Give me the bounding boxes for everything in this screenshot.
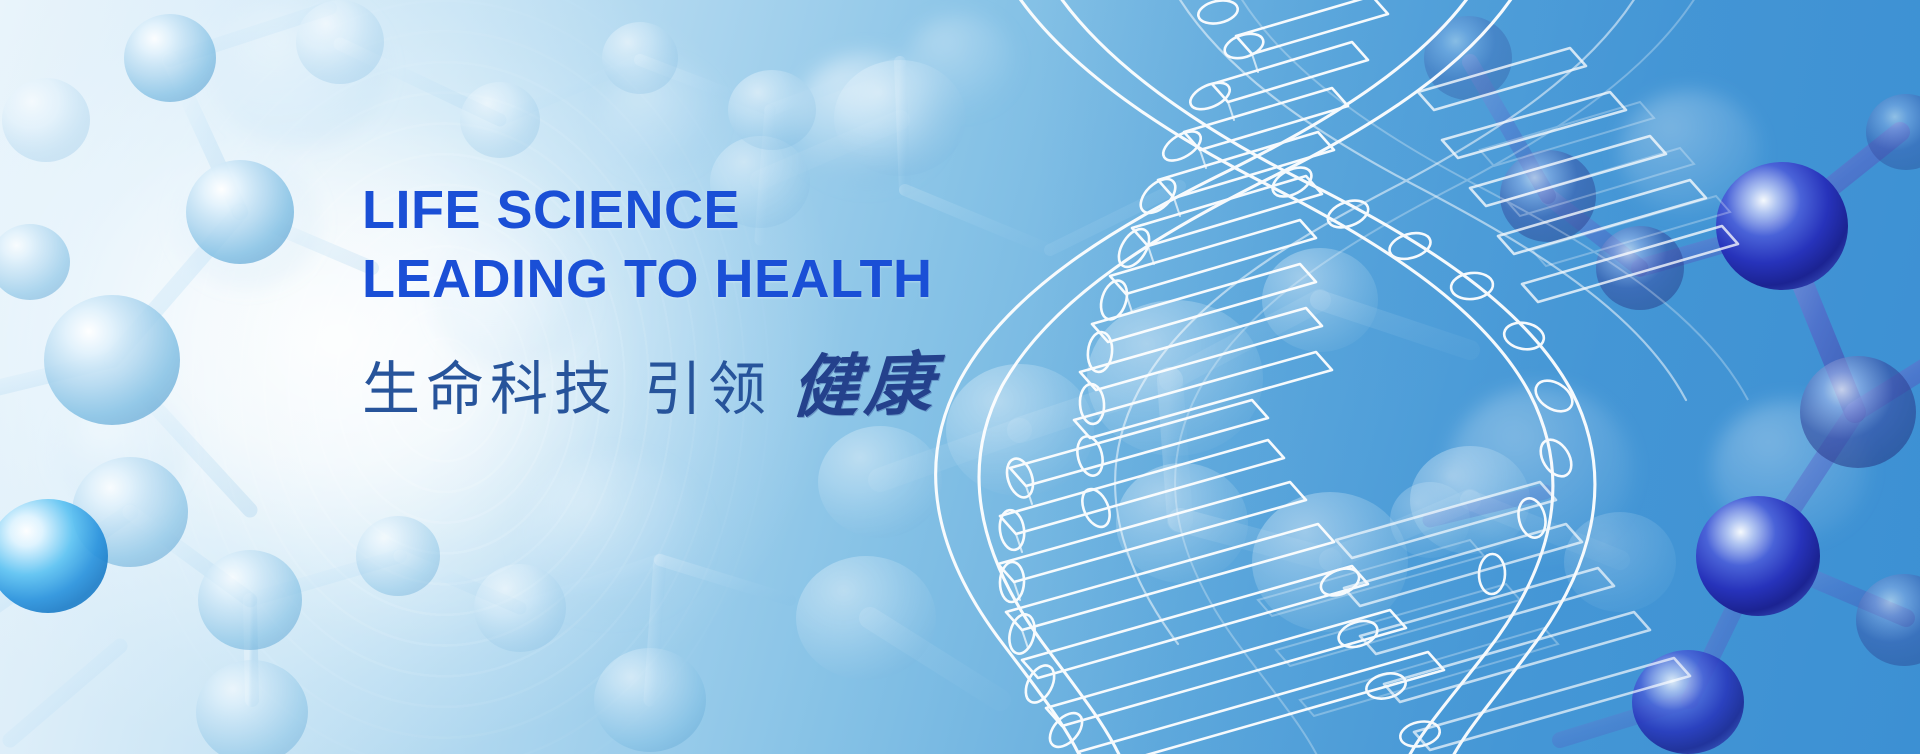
- headline-line-1: LIFE SCIENCE: [362, 176, 938, 245]
- subheadline-brush-word: 健康: [789, 328, 941, 431]
- subheadline-row: 生命科技 引领 健康: [362, 330, 938, 429]
- banner-root: LIFE SCIENCE LEADING TO HEALTH 生命科技 引领 健…: [0, 0, 1920, 754]
- subheadline-secondary: 引领: [644, 342, 772, 426]
- headline-block: LIFE SCIENCE LEADING TO HEALTH 生命科技 引领 健…: [362, 176, 938, 429]
- subheadline-primary: 生命科技: [362, 342, 618, 426]
- molecule-artwork: [0, 0, 1920, 754]
- headline-line-2: LEADING TO HEALTH: [362, 245, 938, 314]
